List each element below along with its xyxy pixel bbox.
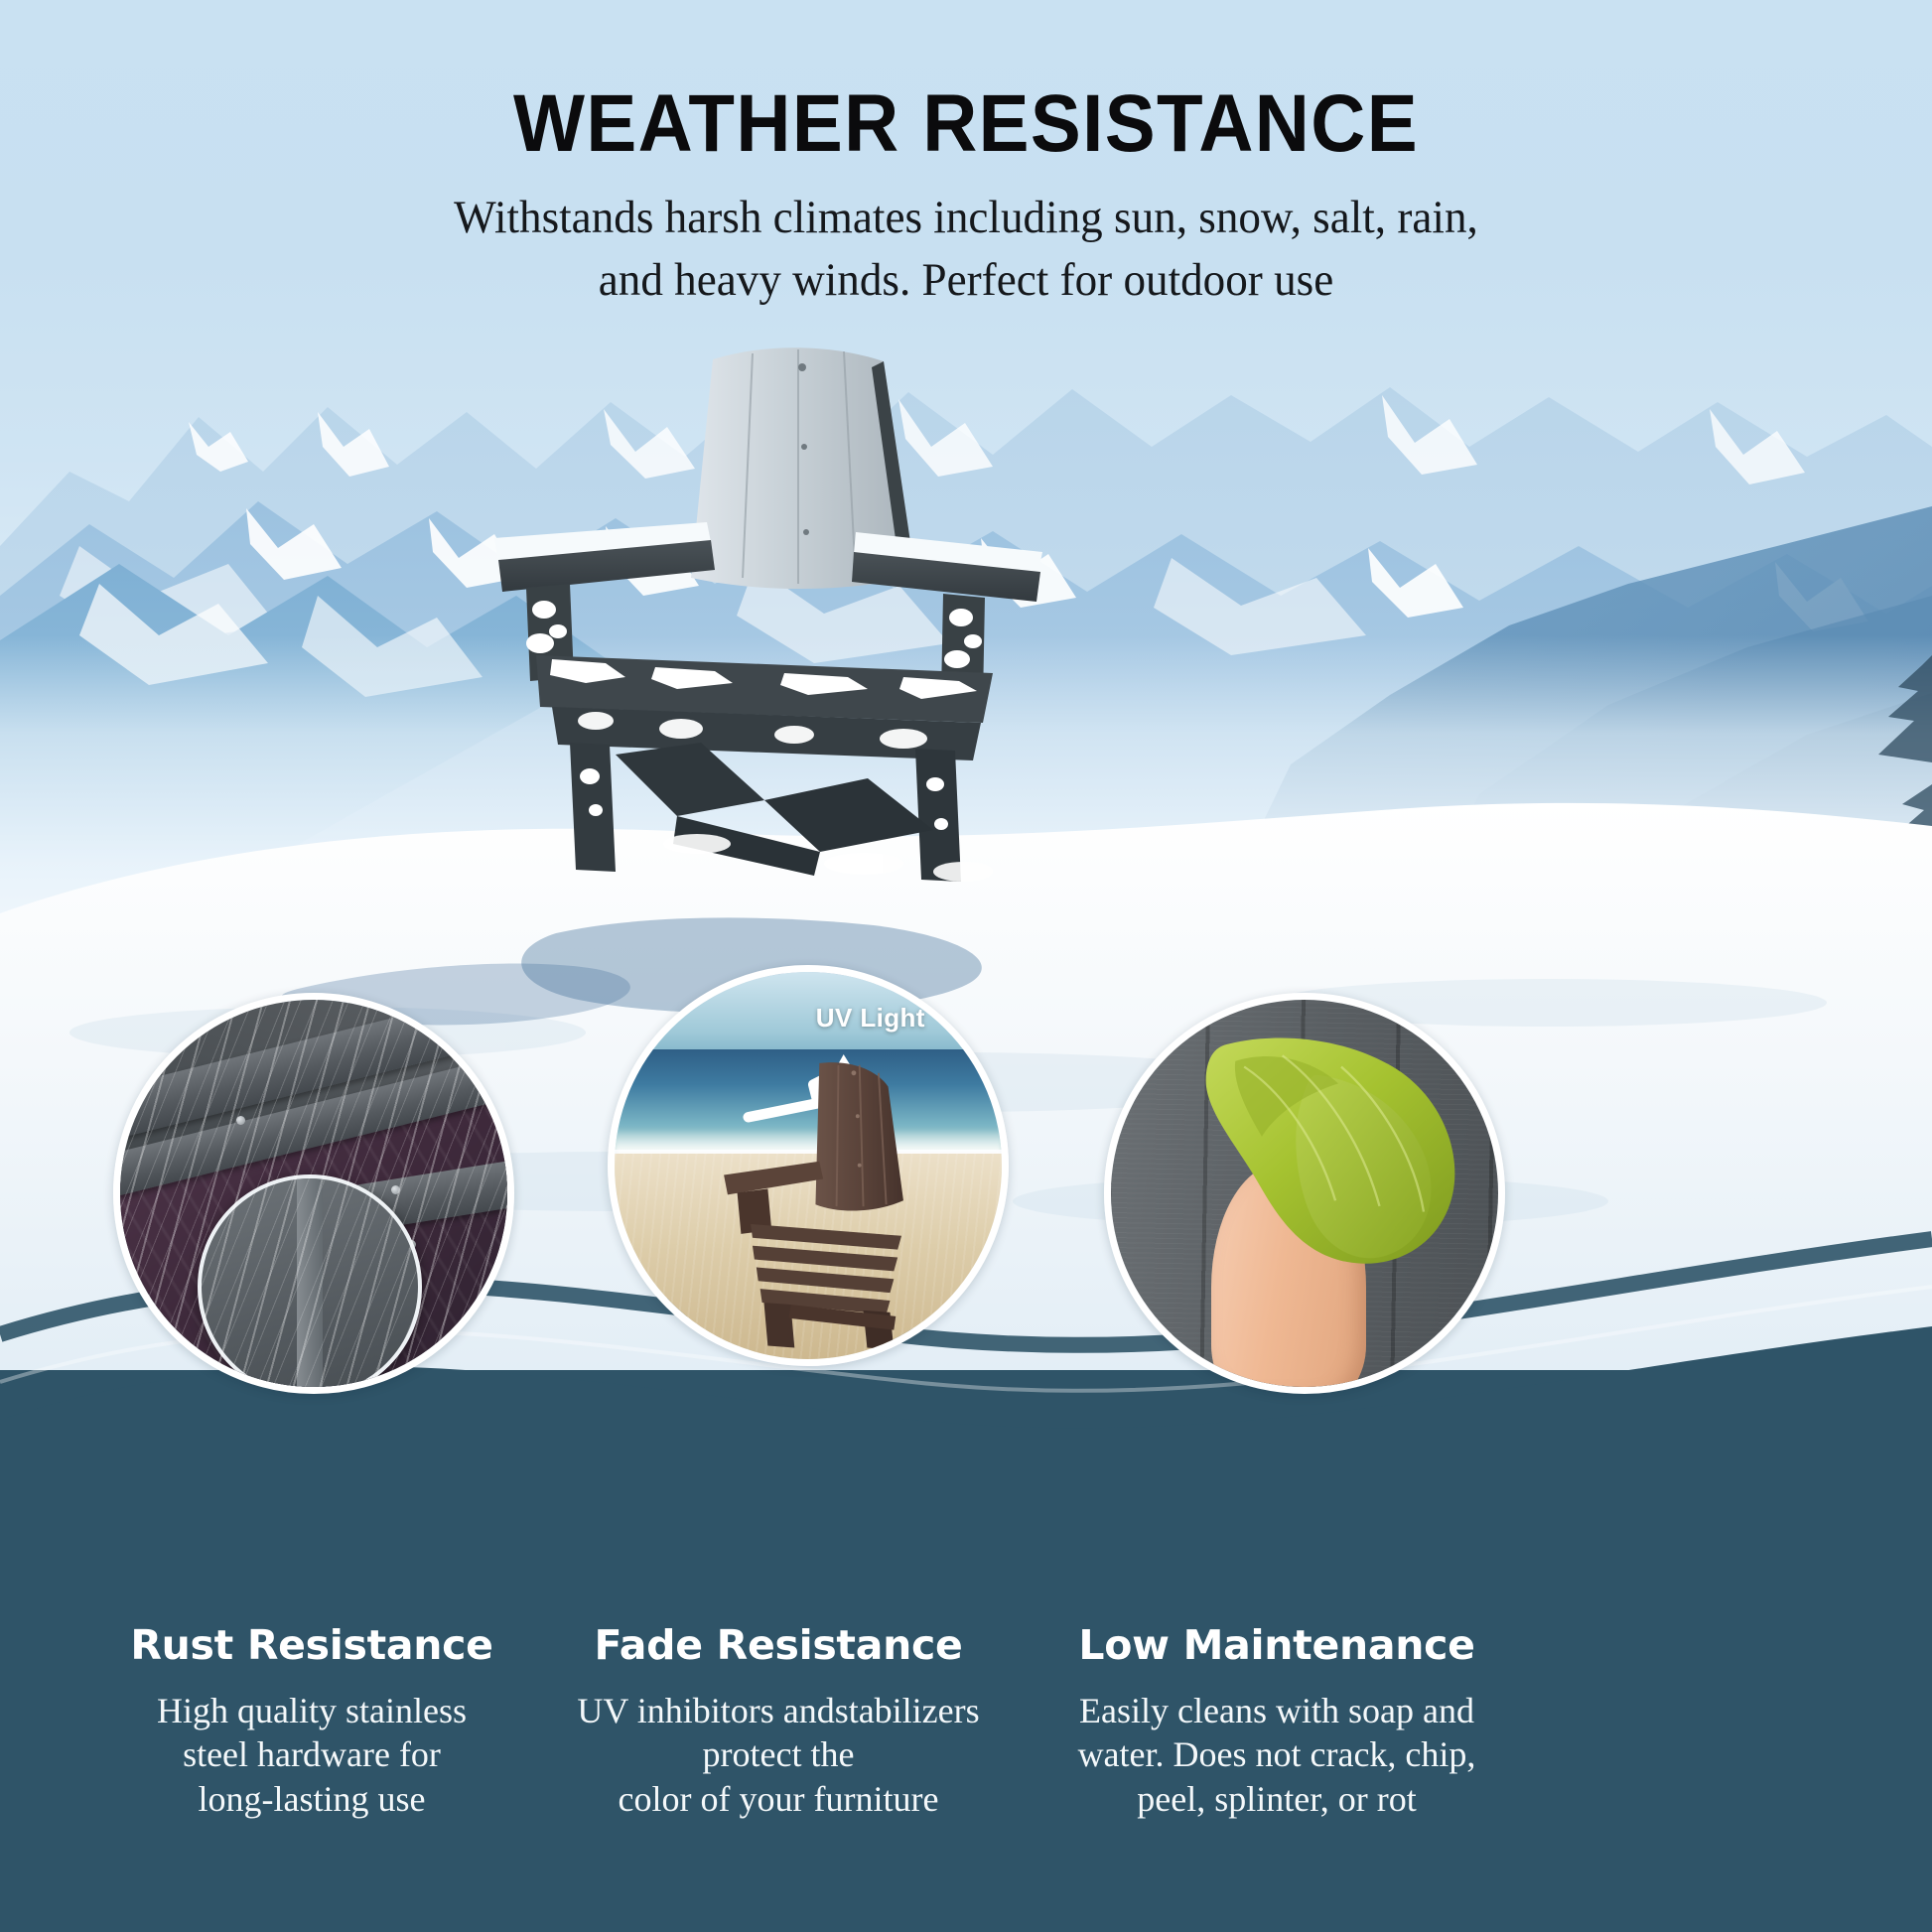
feature-title: Rust Resistance — [54, 1624, 570, 1667]
feature-description: UV inhibitors andstabilizers protect the… — [520, 1689, 1036, 1821]
feature-description-line: color of your furniture — [520, 1777, 1036, 1821]
uv-light-label: UV Light — [816, 1003, 925, 1034]
feature-description-line: long-lasting use — [54, 1777, 570, 1821]
feature-description-line: Easily cleans with soap and — [1019, 1689, 1535, 1732]
subtitle-line-2: and heavy winds. Perfect for outdoor use — [39, 249, 1893, 312]
feature-description-line: protect the — [520, 1732, 1036, 1776]
feature-card-fade-resistance: Fade Resistance UV inhibitors andstabili… — [520, 1624, 1036, 1821]
page-subtitle: Withstands harsh climates including sun,… — [39, 187, 1893, 311]
feature-title: Low Maintenance — [1019, 1624, 1535, 1667]
subtitle-line-1: Withstands harsh climates including sun,… — [39, 187, 1893, 249]
feature-title: Fade Resistance — [520, 1624, 1036, 1667]
feature-description-line: UV inhibitors andstabilizers — [520, 1689, 1036, 1732]
rain-overlay-fine — [113, 993, 514, 1394]
adirondack-chair-hero — [467, 328, 1082, 923]
feature-description-line: High quality stainless — [54, 1689, 570, 1732]
feature-card-rust-resistance: Rust Resistance High quality stainless s… — [54, 1624, 570, 1821]
feature-image-rust-resistance — [113, 993, 514, 1394]
infographic-canvas: WEATHER RESISTANCE Withstands harsh clim… — [0, 0, 1932, 1932]
feature-description: Easily cleans with soap and water. Does … — [1019, 1689, 1535, 1821]
feature-description-line: peel, splinter, or rot — [1019, 1777, 1535, 1821]
page-title: WEATHER RESISTANCE — [68, 83, 1864, 165]
feature-card-low-maintenance: Low Maintenance Easily cleans with soap … — [1019, 1624, 1535, 1821]
feature-image-fade-resistance: UV Light — [608, 965, 1009, 1366]
feature-description-line: steel hardware for — [54, 1732, 570, 1776]
feature-description-line: water. Does not crack, chip, — [1019, 1732, 1535, 1776]
feature-image-low-maintenance — [1104, 993, 1505, 1394]
green-microfiber-cloth — [1176, 1031, 1470, 1310]
brown-adirondack-chair — [676, 1057, 963, 1351]
feature-description: High quality stainless steel hardware fo… — [54, 1689, 570, 1821]
